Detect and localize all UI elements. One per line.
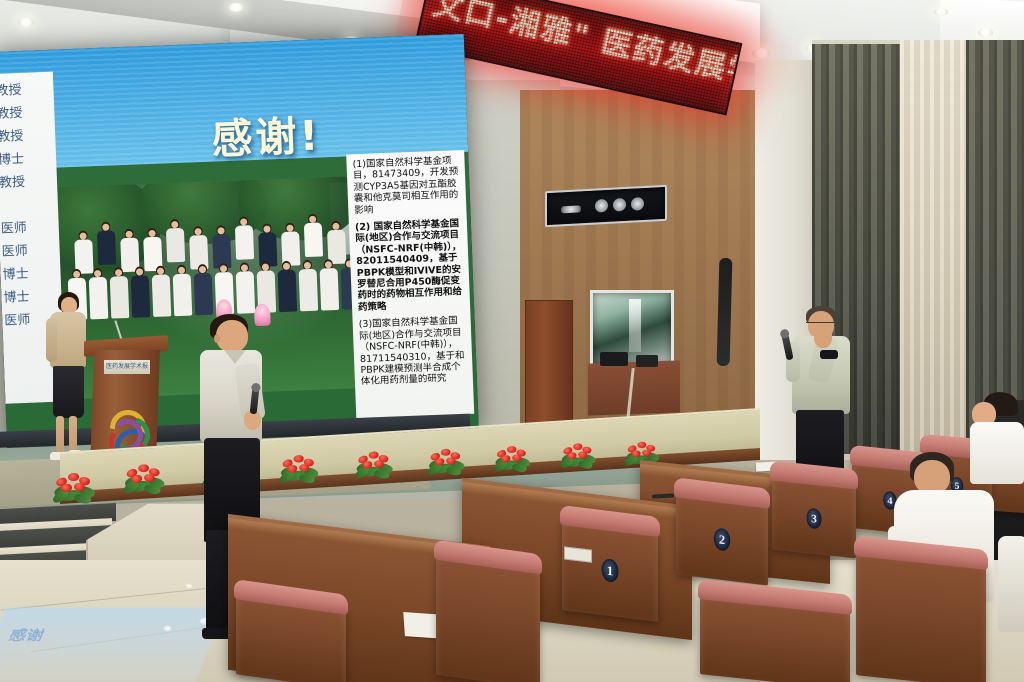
floor-glint (186, 584, 192, 588)
flower-bloom (637, 442, 646, 448)
leg (56, 416, 64, 454)
photo-person (108, 267, 130, 324)
potted-flower (279, 452, 321, 483)
side-panel-line (0, 193, 58, 218)
photo-person (171, 265, 193, 322)
hand-at-chin (814, 326, 832, 348)
side-panel-line: 教授 (0, 78, 54, 103)
photo-person (150, 265, 172, 322)
potted-flower (560, 441, 598, 469)
side-panel-line: 医师 (0, 216, 59, 241)
floor-glint (164, 626, 171, 631)
booth-equipment (600, 352, 628, 366)
photo-person-body (97, 230, 116, 265)
head (216, 320, 248, 352)
spot-lamp-icon (595, 199, 608, 213)
slide-text-item-1: (1)国家自然科学基金项目，81473409，开发预测CYP3A5基因对五酯胶囊… (352, 155, 461, 216)
flower-bloom (294, 455, 304, 462)
photo-person-body (166, 228, 185, 263)
leg (69, 416, 77, 454)
downlight-icon (934, 8, 948, 16)
photo-person (302, 213, 324, 262)
head (914, 460, 950, 494)
seat-back (856, 549, 986, 682)
auditorium-seat[interactable]: 2 (676, 490, 768, 585)
wristwatch-icon (820, 350, 838, 359)
seated-audience-member-far-right (998, 536, 1024, 632)
side-panel-line: 教授 (0, 170, 57, 195)
leg-left (206, 530, 230, 634)
potted-flower (52, 470, 98, 504)
downlight-icon (978, 28, 993, 37)
photo-person (96, 221, 118, 270)
photo-person (318, 259, 340, 316)
seat-number-badge: 3 (807, 508, 822, 530)
auditorium-seat[interactable]: 3 (772, 474, 856, 559)
lecture-hall-photo: 文口-湘雅" 医药发展学术报告 感谢! (1)国家自 (0, 0, 1024, 682)
auditorium-seat[interactable] (700, 592, 850, 682)
spot-lamp-icon (561, 205, 581, 213)
potted-flower (427, 446, 467, 476)
auditorium-seat[interactable]: 1 (562, 518, 658, 622)
photo-person-body (235, 225, 254, 260)
arm (46, 318, 57, 362)
photo-person-body (194, 273, 214, 316)
photo-person-body (131, 275, 151, 318)
downlight-icon (752, 48, 770, 59)
institution-logo-icon (108, 410, 144, 452)
lectern-plate: 医药发展学术报告 (104, 360, 150, 374)
side-panel-line: 博士 (2, 262, 61, 287)
slide-text-item-2: (2) 国家自然科学基金国际(地区)合作与交流项目（NSFC-NRF(中韩)），… (355, 218, 462, 313)
flower-bloom (573, 443, 582, 450)
side-door[interactable] (525, 300, 573, 432)
window-glare (629, 299, 641, 352)
potted-flower (493, 444, 532, 473)
floor-reflection-text: 感谢 (2, 624, 104, 656)
photo-person (297, 260, 319, 317)
photo-person (165, 219, 187, 268)
flower-bloom (138, 464, 149, 472)
photo-person-body (278, 270, 298, 313)
torso (998, 536, 1024, 632)
side-panel-line: 教授 (0, 124, 56, 149)
auditorium-seat[interactable] (236, 592, 346, 682)
slide-text-block: (1)国家自然科学基金项目，81473409，开发预测CYP3A5基因对五酯胶囊… (346, 150, 474, 418)
flower-bloom (369, 452, 379, 459)
ceiling-niche-lights (545, 185, 667, 227)
slide-text-item-3: (3)国家自然科学基金国际(地区)合作与交流项目（NSFC-NRF(中韩)），8… (359, 315, 469, 387)
slide-title: 感谢! (210, 101, 322, 165)
side-panel-line: 教授 (0, 101, 55, 126)
photo-person-body (110, 276, 130, 319)
photo-person (192, 264, 214, 321)
auditorium-seat[interactable] (856, 549, 986, 682)
booth-equipment (636, 355, 658, 367)
ear (214, 334, 220, 343)
potted-flower (123, 462, 168, 495)
flower-bloom (507, 446, 516, 453)
flower-bloom (68, 473, 79, 481)
downlight-icon (228, 3, 244, 12)
photo-person-body (299, 269, 319, 312)
potted-flower (355, 449, 396, 479)
curtain-light-center (900, 40, 972, 460)
flower-bloom (441, 449, 451, 456)
photo-person (234, 216, 256, 265)
photo-person (234, 262, 256, 319)
photo-person (276, 260, 298, 317)
photo-person-body (236, 271, 256, 314)
photo-person (129, 266, 151, 323)
downlight-icon (18, 18, 34, 27)
spot-lamp-icon (613, 198, 626, 212)
photo-person-body (320, 268, 340, 311)
side-panel-line: 医师 (1, 239, 60, 264)
photo-person-body (304, 222, 323, 257)
skirt (53, 366, 84, 418)
photo-person-body (152, 274, 172, 317)
side-panel-line: 博士 (0, 147, 57, 172)
photo-person-body (173, 274, 193, 317)
auditorium-seat[interactable] (436, 553, 540, 682)
spot-lamp-icon (631, 197, 644, 211)
